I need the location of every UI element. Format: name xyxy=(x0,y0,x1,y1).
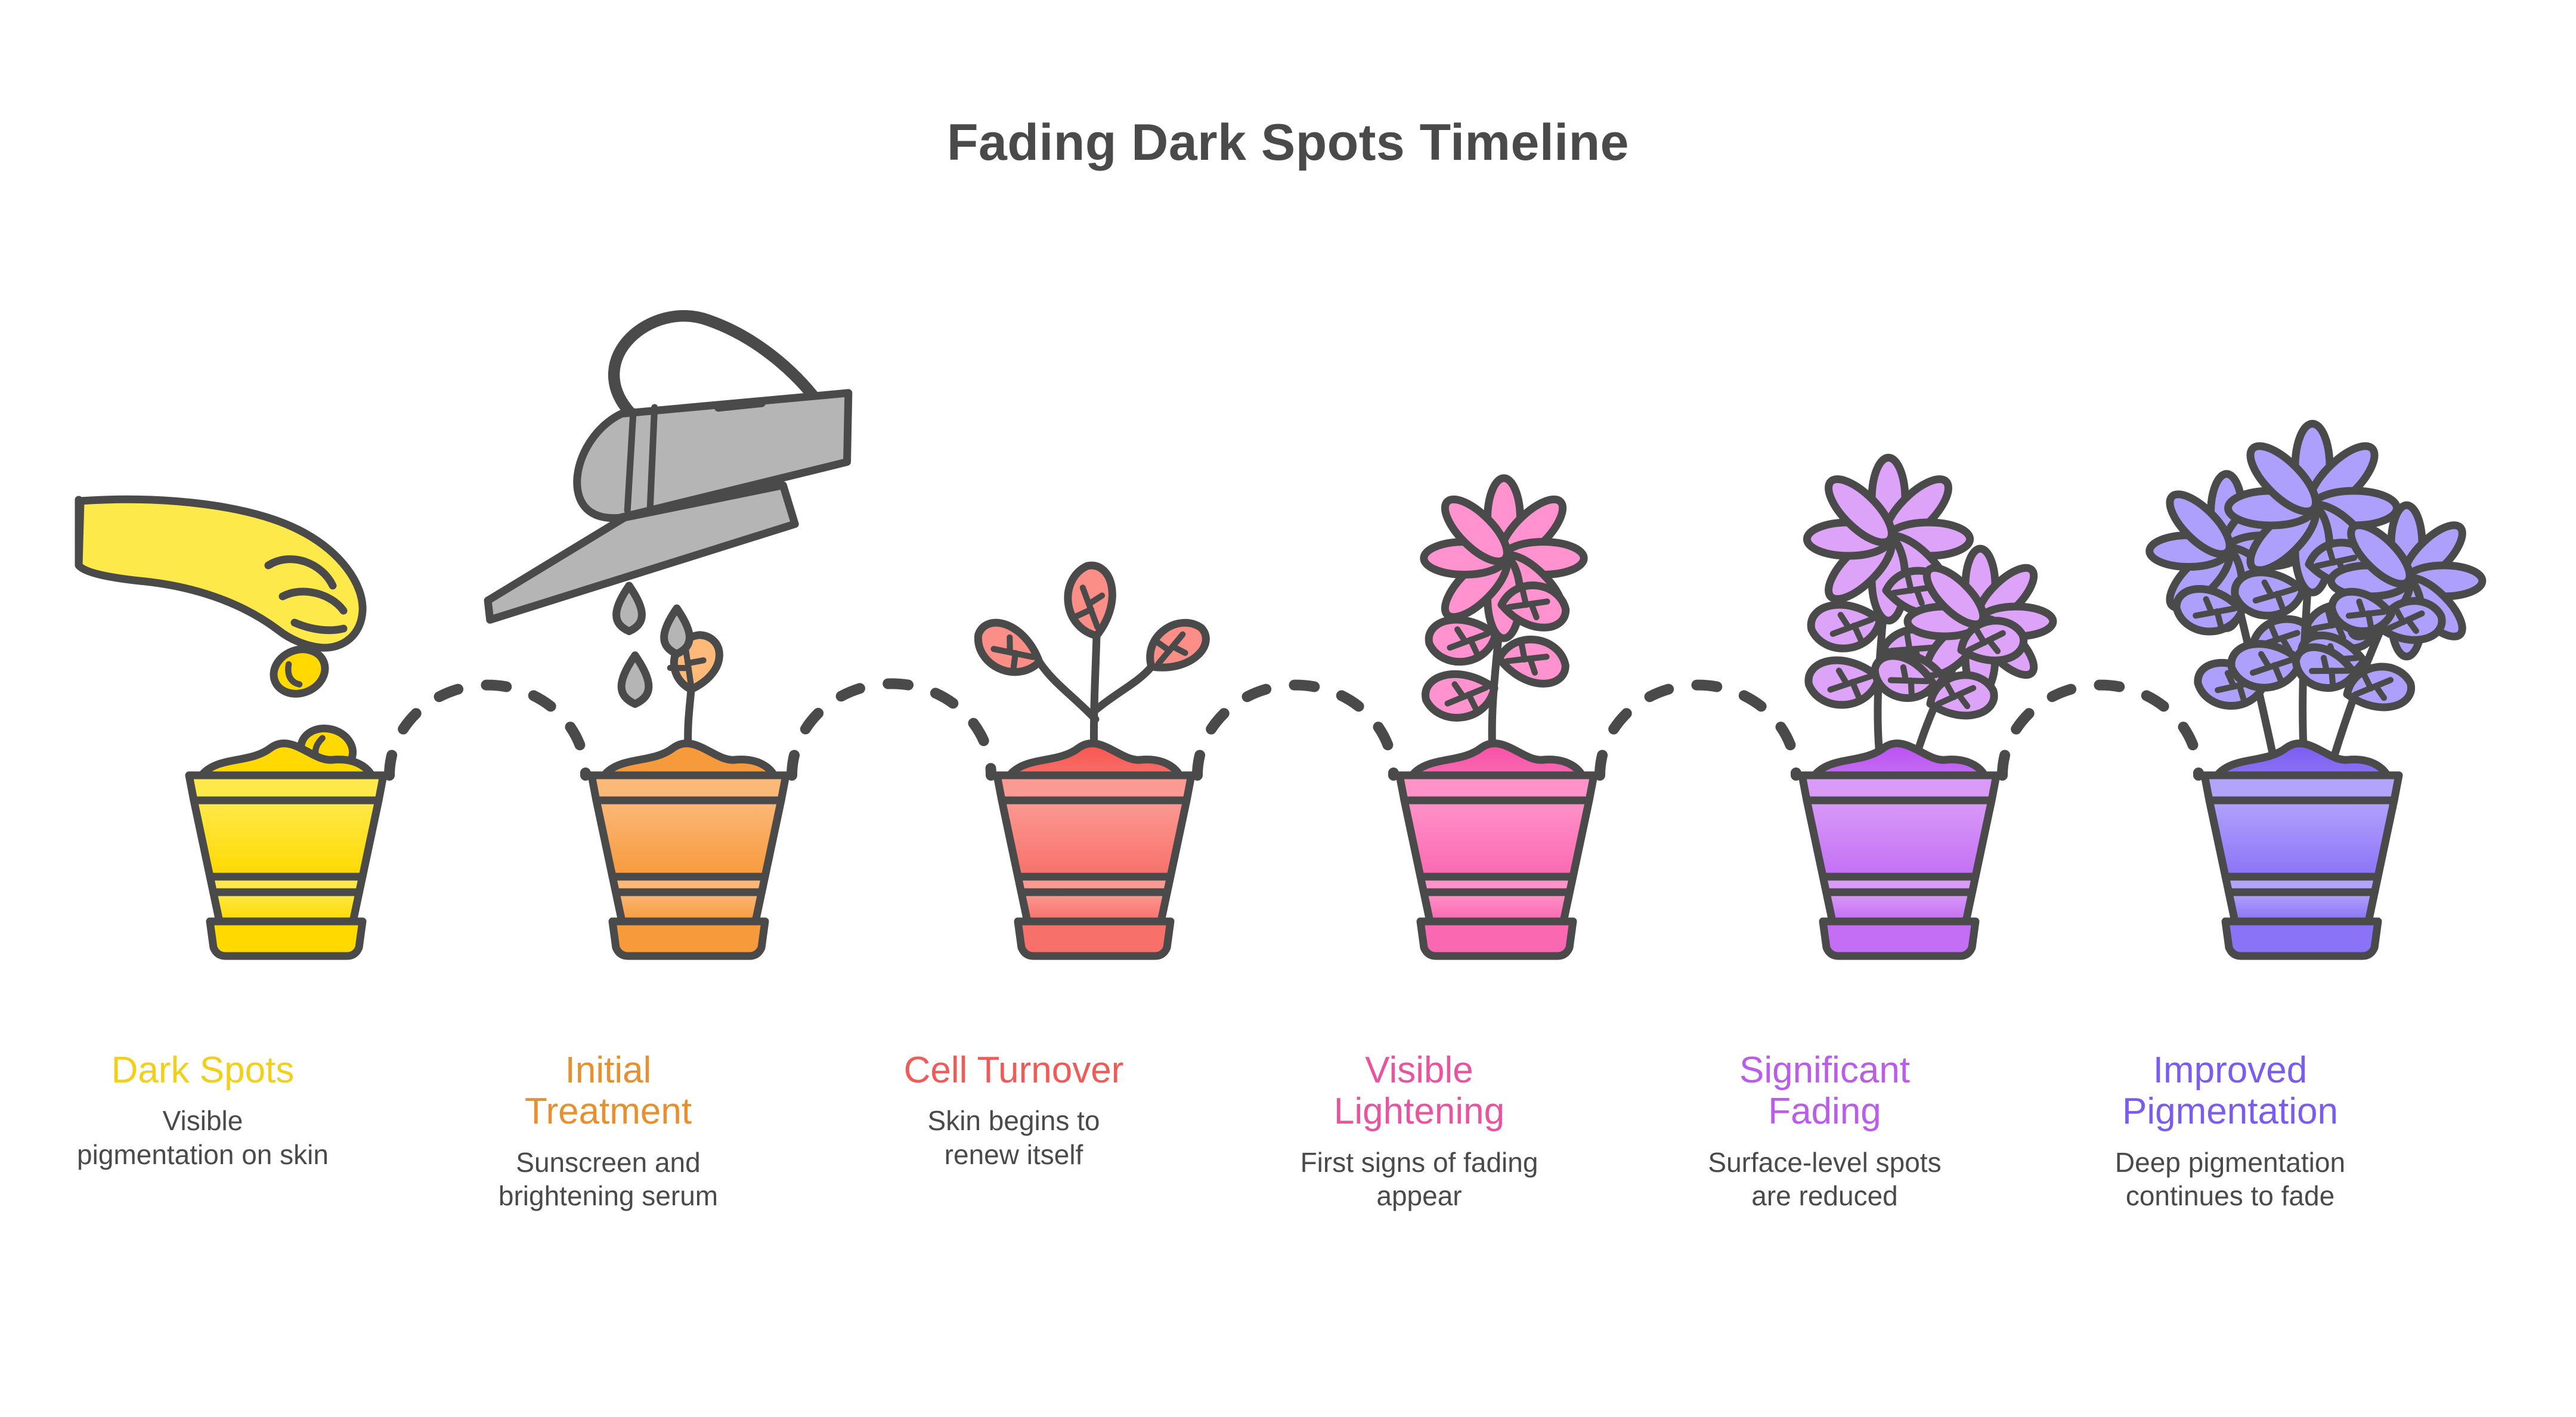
timeline-step-2[interactable]: Initial TreatmentSunscreen and brighteni… xyxy=(405,1050,811,1300)
connector-arc-1 xyxy=(389,685,586,775)
plant-step-6 xyxy=(2150,423,2482,761)
step-heading: Initial Treatment xyxy=(525,1050,692,1133)
pot-base-saucer xyxy=(1420,921,1573,956)
pot-upper-body xyxy=(1807,800,1992,877)
step-heading: Improved Pigmentation xyxy=(2122,1050,2338,1133)
drop-shape xyxy=(617,586,642,632)
pot-base-saucer xyxy=(1018,921,1171,956)
plant-leaf xyxy=(1064,564,1116,638)
pot-base-saucer xyxy=(612,921,765,956)
step-heading: Significant Fading xyxy=(1739,1050,1910,1133)
step-heading: Dark Spots xyxy=(112,1050,295,1091)
pot-illustrations xyxy=(189,743,2399,956)
watering-can-icon xyxy=(420,273,881,620)
step-label-row: Dark SpotsVisible pigmentation on skinIn… xyxy=(0,1050,2576,1300)
pot-lower-body xyxy=(616,892,762,921)
step-caption: Deep pigmentation continues to fade xyxy=(2115,1146,2345,1212)
plant-leaf xyxy=(1807,657,1881,707)
pot-lower-body xyxy=(1021,892,1168,921)
pot-step-3 xyxy=(997,743,1191,956)
water-drop-icon xyxy=(617,586,642,632)
water-drop-icon xyxy=(621,655,649,704)
plant-leaf xyxy=(1423,669,1497,722)
pot-step-5 xyxy=(1802,743,1996,956)
pot-base-saucer xyxy=(210,921,363,956)
step-caption: Visible pigmentation on skin xyxy=(77,1104,329,1171)
plant-step-5 xyxy=(1807,457,2053,761)
plant-leaf xyxy=(2234,571,2304,617)
pot-step-6 xyxy=(2205,743,2399,956)
plant-stem xyxy=(1096,667,1151,710)
timeline-step-3[interactable]: Cell TurnoverSkin begins to renew itself xyxy=(811,1050,1216,1300)
pot-lower-body xyxy=(2229,892,2375,921)
connector-arc-5 xyxy=(2002,685,2199,775)
pot-upper-body xyxy=(194,800,379,877)
infographic-canvas: Fading Dark Spots Timeline Dark SpotsVis… xyxy=(0,0,2576,1417)
pot-lower-body xyxy=(213,892,360,921)
timeline-step-6[interactable]: Improved PigmentationDeep pigmentation c… xyxy=(2027,1050,2433,1300)
pot-base-saucer xyxy=(2225,921,2378,956)
pot-lower-body xyxy=(1424,892,1570,921)
drop-shape xyxy=(621,655,649,704)
drop-shape xyxy=(664,608,690,654)
timeline-step-4[interactable]: Visible LighteningFirst signs of fading … xyxy=(1216,1050,1622,1300)
plant-leaf xyxy=(1497,635,1569,687)
connector-arc-2 xyxy=(792,683,991,775)
pot-step-2 xyxy=(592,743,786,956)
pot-upper-body xyxy=(1404,800,1589,877)
step-caption: First signs of fading appear xyxy=(1301,1146,1538,1212)
plant-step-4 xyxy=(1423,478,1584,761)
water-drop-icon xyxy=(664,608,690,654)
pot-upper-body xyxy=(2209,800,2394,877)
pot-lower-body xyxy=(1826,892,1973,921)
timeline-step-5[interactable]: Significant FadingSurface-level spots ar… xyxy=(1622,1050,2027,1300)
step-caption: Sunscreen and brightening serum xyxy=(499,1146,718,1212)
hand-cuff xyxy=(79,500,80,565)
plant-leaf xyxy=(969,615,1048,683)
plant-leaf xyxy=(1809,601,1883,652)
connector-arc-3 xyxy=(1197,685,1394,775)
pot-step-1 xyxy=(189,743,383,956)
prop-icons xyxy=(79,273,881,704)
pot-base-saucer xyxy=(1823,921,1976,956)
step-caption: Surface-level spots are reduced xyxy=(1708,1146,1941,1212)
step-heading: Cell Turnover xyxy=(904,1050,1124,1091)
hand-icon xyxy=(79,499,363,648)
step-heading: Visible Lightening xyxy=(1334,1050,1504,1133)
pot-step-4 xyxy=(1400,743,1594,956)
pot-upper-body xyxy=(1002,800,1187,877)
connector-arc-4 xyxy=(1600,685,1796,775)
step-caption: Skin begins to renew itself xyxy=(928,1104,1100,1171)
plant-stem xyxy=(1039,662,1095,719)
pot-upper-body xyxy=(596,800,781,877)
timeline-step-1[interactable]: Dark SpotsVisible pigmentation on skin xyxy=(0,1050,405,1300)
plant-step-3 xyxy=(969,564,1213,761)
